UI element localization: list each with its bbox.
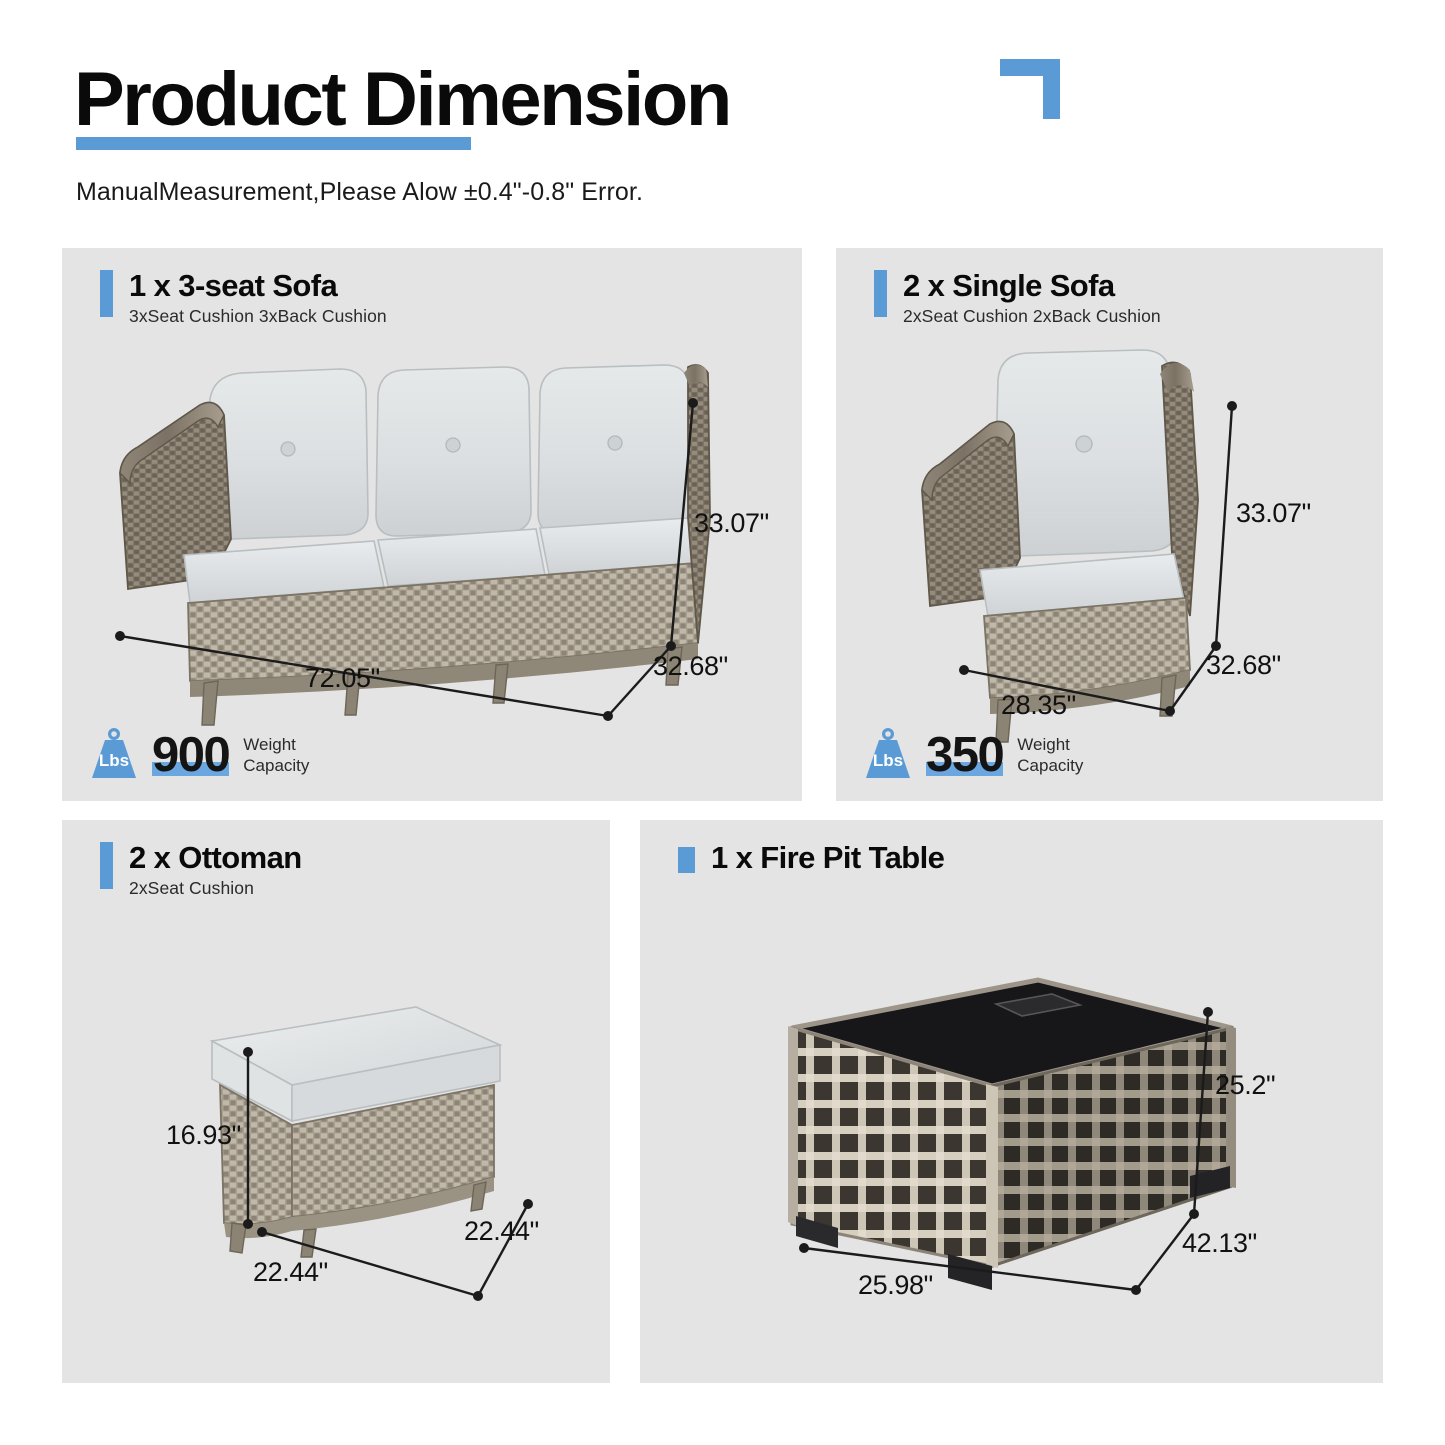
page-title: Product Dimension <box>74 62 730 138</box>
weight-value-chair: 350 <box>926 731 1003 780</box>
dim-width-firepit: 25.98" <box>858 1270 933 1301</box>
product-dimension-infographic: Product Dimension ManualMeasurement,Plea… <box>0 0 1445 1445</box>
weight-value-sofa: 900 <box>152 731 229 780</box>
title-underline-accent <box>76 137 471 150</box>
weight-caption-sofa: Weight Capacity <box>243 734 309 777</box>
weight-unit-label: Lbs <box>873 751 903 770</box>
dim-height-sofa: 33.07" <box>694 508 769 539</box>
weight-icon: Lbs <box>88 728 140 782</box>
sofa-dimension-lines <box>62 248 802 801</box>
fire-pit-dimension-lines <box>640 820 1383 1383</box>
dim-depth-ottoman: 22.44" <box>464 1216 539 1247</box>
weight-caption-line1: Weight <box>1017 734 1083 755</box>
weight-caption-chair: Weight Capacity <box>1017 734 1083 777</box>
panel-fire-pit-table: 1 x Fire Pit Table <box>640 820 1383 1383</box>
panel-3-seat-sofa: 1 x 3-seat Sofa 3xSeat Cushion 3xBack Cu… <box>62 248 802 801</box>
dim-height-ottoman: 16.93" <box>166 1120 241 1151</box>
dim-height-chair: 33.07" <box>1236 498 1311 529</box>
dim-depth-chair: 32.68" <box>1206 650 1281 681</box>
dim-depth-sofa: 32.68" <box>653 651 728 682</box>
dim-width-sofa: 72.05" <box>305 663 380 694</box>
dim-depth-firepit: 42.13" <box>1182 1228 1257 1259</box>
dim-width-chair: 28.35" <box>1001 690 1076 721</box>
panel-single-sofa: 2 x Single Sofa 2xSeat Cushion 2xBack Cu… <box>836 248 1383 801</box>
weight-badge-chair: Lbs 350 Weight Capacity <box>862 728 1083 782</box>
weight-caption-line2: Capacity <box>1017 755 1083 776</box>
page-title-row: Product Dimension <box>74 62 730 138</box>
page-subtitle: ManualMeasurement,Please Alow ±0.4"-0.8"… <box>76 178 643 207</box>
ottoman-dimension-lines <box>62 820 610 1383</box>
dim-height-firepit: 25.2" <box>1215 1070 1275 1101</box>
corner-bracket-vertical <box>1043 59 1060 119</box>
weight-unit-label: Lbs <box>99 751 129 770</box>
weight-caption-line1: Weight <box>243 734 309 755</box>
weight-badge-sofa: Lbs 900 Weight Capacity <box>88 728 309 782</box>
page-header: Product Dimension <box>74 62 1374 138</box>
weight-caption-line2: Capacity <box>243 755 309 776</box>
dim-width-ottoman: 22.44" <box>253 1257 328 1288</box>
corner-bracket-icon <box>1000 59 1060 119</box>
weight-icon: Lbs <box>862 728 914 782</box>
panel-ottoman: 2 x Ottoman 2xSeat Cushion <box>62 820 610 1383</box>
